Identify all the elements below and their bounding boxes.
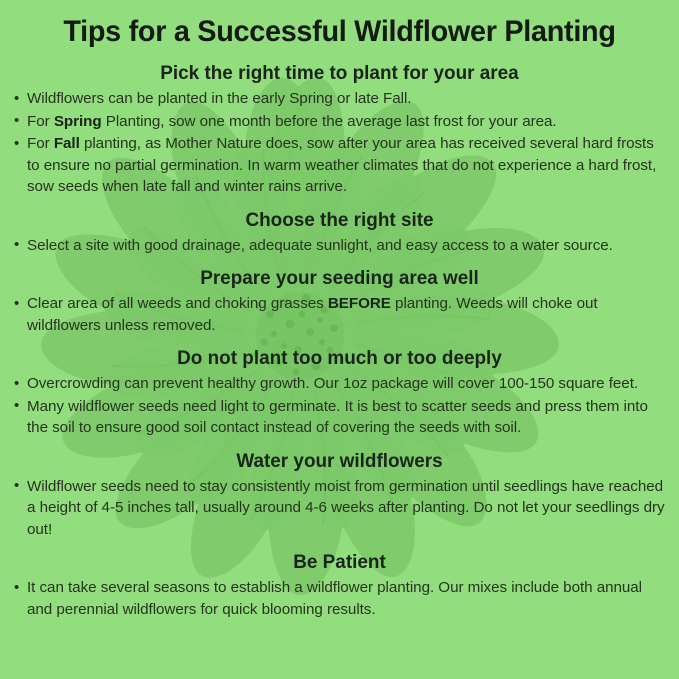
body-text: It can take several seasons to establish… — [27, 579, 642, 618]
wildflower-tips-poster: Tips for a Successful Wildflower Plantin… — [0, 0, 679, 679]
body-text: For — [27, 135, 54, 152]
bullet-list: Overcrowding can prevent healthy growth.… — [10, 373, 669, 439]
body-text: Wildflower seeds need to stay consistent… — [27, 478, 665, 538]
body-text: For — [27, 113, 54, 130]
bullet-list: Wildflowers can be planted in the early … — [10, 88, 669, 198]
list-item: It can take several seasons to establish… — [10, 577, 669, 620]
list-item: Many wildflower seeds need light to germ… — [10, 396, 669, 439]
emphasis-text: BEFORE — [328, 295, 391, 312]
body-text: Overcrowding can prevent healthy growth.… — [27, 375, 638, 392]
section-heading: Water your wildflowers — [20, 448, 659, 474]
list-item: For Spring Planting, sow one month befor… — [10, 111, 669, 133]
bullet-list: Select a site with good drainage, adequa… — [10, 235, 669, 257]
sections-list: Pick the right time to plant for your ar… — [10, 60, 669, 620]
emphasis-text: Spring — [54, 113, 102, 130]
list-item: Wildflowers can be planted in the early … — [10, 88, 669, 110]
body-text: Planting, sow one month before the avera… — [102, 113, 557, 130]
list-item: Overcrowding can prevent healthy growth.… — [10, 373, 669, 395]
list-item: Wildflower seeds need to stay consistent… — [10, 476, 669, 541]
section-heading: Do not plant too much or too deeply — [20, 345, 659, 371]
body-text: planting, as Mother Nature does, sow aft… — [27, 135, 656, 195]
list-item: Clear area of all weeds and choking gras… — [10, 293, 669, 336]
section: Be PatientIt can take several seasons to… — [10, 549, 669, 620]
body-text: Many wildflower seeds need light to germ… — [27, 398, 648, 437]
bullet-list: Wildflower seeds need to stay consistent… — [10, 476, 669, 541]
section-heading: Choose the right site — [20, 207, 659, 233]
bullet-list: Clear area of all weeds and choking gras… — [10, 293, 669, 336]
section-heading: Be Patient — [20, 549, 659, 575]
page-title: Tips for a Successful Wildflower Plantin… — [23, 14, 656, 50]
body-text: Select a site with good drainage, adequa… — [27, 237, 613, 254]
section: Prepare your seeding area wellClear area… — [10, 265, 669, 336]
list-item: Select a site with good drainage, adequa… — [10, 235, 669, 257]
section: Do not plant too much or too deeplyOverc… — [10, 345, 669, 439]
section: Choose the right siteSelect a site with … — [10, 207, 669, 257]
emphasis-text: Fall — [54, 135, 80, 152]
bullet-list: It can take several seasons to establish… — [10, 577, 669, 620]
section-heading: Pick the right time to plant for your ar… — [20, 60, 659, 86]
poster-content: Tips for a Successful Wildflower Plantin… — [0, 0, 679, 679]
list-item: For Fall planting, as Mother Nature does… — [10, 133, 669, 198]
body-text: Clear area of all weeds and choking gras… — [27, 295, 328, 312]
section-heading: Prepare your seeding area well — [20, 265, 659, 291]
body-text: Wildflowers can be planted in the early … — [27, 90, 411, 107]
section: Water your wildflowersWildflower seeds n… — [10, 448, 669, 541]
section: Pick the right time to plant for your ar… — [10, 60, 669, 198]
